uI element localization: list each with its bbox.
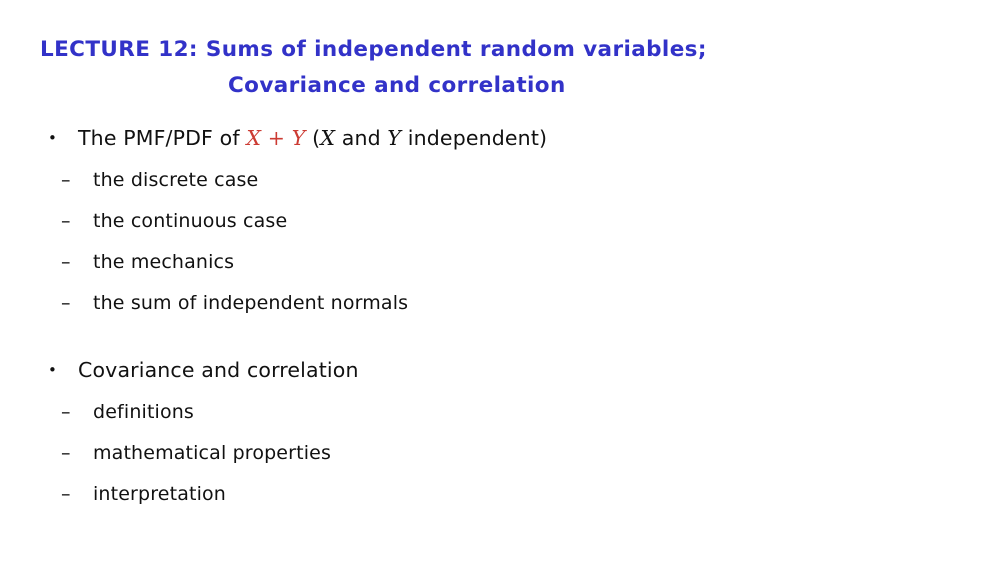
- dash-marker-icon: –: [61, 201, 71, 242]
- math-variable-x: X: [246, 126, 261, 150]
- bullet-text-independent: independent: [401, 126, 539, 150]
- dash-marker-icon: –: [61, 283, 71, 324]
- sub-item-label: interpretation: [93, 483, 226, 505]
- lecture-slide: LECTURE 12: Sums of independent random v…: [0, 0, 999, 562]
- bullet-marker-icon: •: [48, 118, 57, 158]
- math-variable-y: Y: [292, 126, 306, 150]
- title-line-1: LECTURE 12: Sums of independent random v…: [0, 32, 999, 68]
- bullet-item-pmf-pdf: •The PMF/PDF of X + Y (X and Y independe…: [0, 118, 999, 158]
- dash-marker-icon: –: [61, 392, 71, 433]
- bullet-text-label: Covariance and correlation: [78, 358, 359, 382]
- bullet-text-and: and: [335, 126, 387, 150]
- slide-title: LECTURE 12: Sums of independent random v…: [0, 32, 999, 104]
- dash-marker-icon: –: [61, 242, 71, 283]
- sub-item-label: the mechanics: [93, 251, 234, 273]
- sub-item-discrete-case: –the discrete case: [0, 160, 999, 201]
- dash-marker-icon: –: [61, 433, 71, 474]
- math-inner-variable-y: Y: [387, 126, 401, 150]
- sub-item-definitions: –definitions: [0, 392, 999, 433]
- sub-item-label: the continuous case: [93, 210, 287, 232]
- sub-item-mathematical-properties: –mathematical properties: [0, 433, 999, 474]
- dash-marker-icon: –: [61, 160, 71, 201]
- slide-outline: •The PMF/PDF of X + Y (X and Y independe…: [0, 118, 999, 515]
- dash-marker-icon: –: [61, 474, 71, 515]
- sub-item-label: mathematical properties: [93, 442, 331, 464]
- bullet-text-prefix: The PMF/PDF of: [78, 126, 246, 150]
- bullet-item-covariance-and-correlation: •Covariance and correlation: [0, 350, 999, 390]
- sub-item-sum-of-independent-normals: –the sum of independent normals: [0, 283, 999, 324]
- sub-item-label: the discrete case: [93, 169, 258, 191]
- paren-open: (: [305, 126, 320, 150]
- title-line-2: Covariance and correlation: [0, 68, 999, 104]
- section-gap: [0, 324, 999, 350]
- bullet-marker-icon: •: [48, 350, 57, 390]
- sub-item-label: definitions: [93, 401, 194, 423]
- paren-close: ): [539, 126, 547, 150]
- math-inner-variable-x: X: [320, 126, 335, 150]
- sub-item-interpretation: –interpretation: [0, 474, 999, 515]
- sub-item-label: the sum of independent normals: [93, 292, 408, 314]
- sub-item-continuous-case: –the continuous case: [0, 201, 999, 242]
- sub-item-mechanics: –the mechanics: [0, 242, 999, 283]
- math-operator-plus: +: [261, 126, 292, 150]
